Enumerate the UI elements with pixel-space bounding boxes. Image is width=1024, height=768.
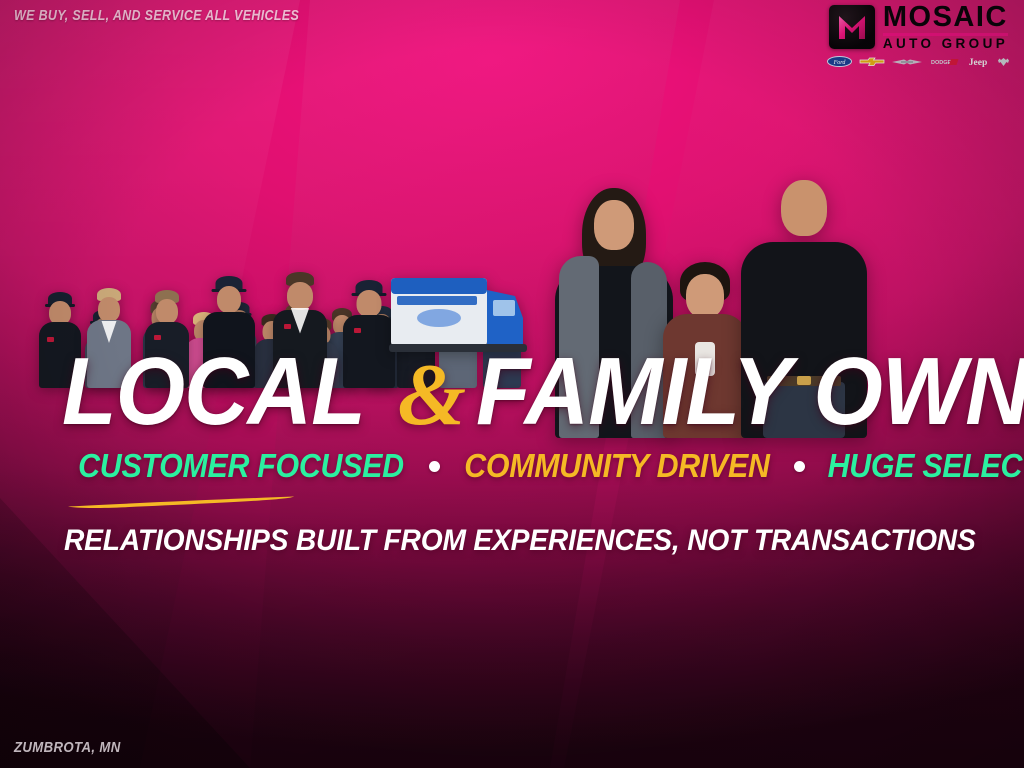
tagline-item-customer-focused: CUSTOMER FOCUSED (78, 447, 404, 485)
logo-wordmark: MOSAIC AUTO GROUP (883, 4, 1008, 50)
chevrolet-bowtie-badge-icon (859, 55, 885, 68)
mosaic-auto-group-logo[interactable]: MOSAIC AUTO GROUP Ford (827, 4, 1010, 68)
header-tagline: WE BUY, SELL, AND SERVICE ALL VEHICLES (14, 8, 299, 24)
tagline-bullet-separator (794, 461, 805, 472)
brand-badge-strip: Ford DODGE (827, 55, 1010, 68)
gold-brushstroke-divider-icon (66, 494, 296, 510)
svg-text:DODGE: DODGE (931, 60, 952, 66)
headline-word-local: LOCAL (62, 348, 365, 436)
svg-text:Ford: Ford (833, 60, 847, 66)
logo-name-text: MOSAIC (883, 4, 1008, 32)
mosaic-m-monogram-icon (829, 5, 875, 49)
background-facet-bottom-left (0, 438, 360, 768)
tagline-item-huge-selection: HUGE SELECTION (827, 447, 1024, 485)
headline-word-family-owned: FAMILY OWNED (476, 348, 1024, 436)
background-bottom-shade (0, 468, 1024, 768)
headline-ampersand: & (398, 345, 466, 446)
footer-location: ZUMBROTA, MN (14, 739, 121, 756)
logo-primary-row: MOSAIC AUTO GROUP (829, 4, 1008, 50)
hero-headline: LOCAL & FAMILY OWNED (62, 345, 1024, 446)
hero-tagline-row: CUSTOMER FOCUSED COMMUNITY DRIVEN HUGE S… (64, 447, 1024, 485)
tagline-bullet-separator (429, 461, 440, 472)
ford-oval-badge-icon: Ford (827, 55, 852, 68)
jeep-wordmark-badge-icon: Jeep (966, 55, 990, 68)
hero-subheadline: RELATIONSHIPS BUILT FROM EXPERIENCES, NO… (64, 524, 976, 558)
chrysler-wings-badge-icon (892, 55, 922, 68)
promotional-banner: WE BUY, SELL, AND SERVICE ALL VEHICLES (0, 0, 1024, 768)
ram-head-badge-icon (997, 55, 1010, 68)
logo-subtitle-text: AUTO GROUP (883, 37, 1008, 51)
tagline-item-community-driven: COMMUNITY DRIVEN (464, 447, 769, 485)
svg-text:Jeep: Jeep (969, 58, 987, 67)
dodge-stripes-badge-icon: DODGE (929, 55, 959, 68)
